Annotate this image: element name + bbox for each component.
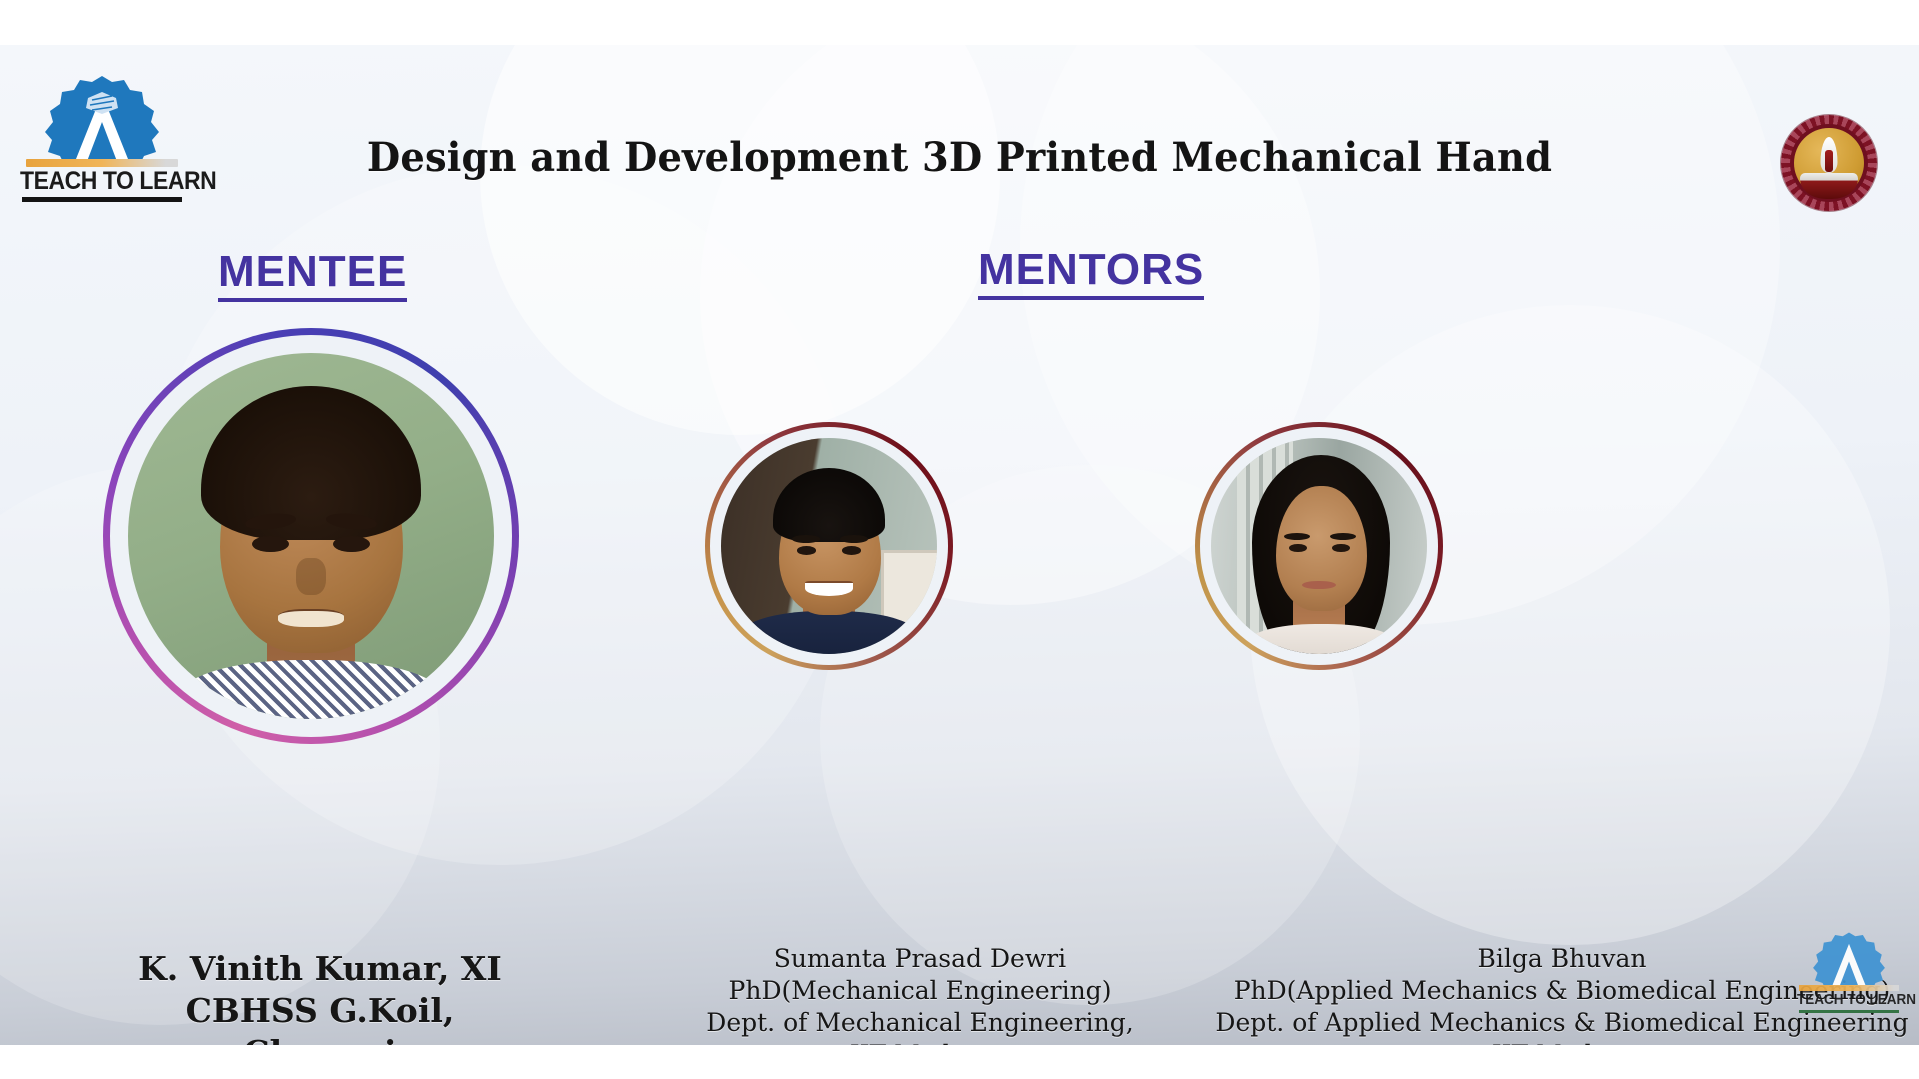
- page-title: Design and Development 3D Printed Mechan…: [38, 134, 1880, 181]
- mentor-2-photo: [1211, 438, 1427, 654]
- letterbox-bottom: [0, 1045, 1919, 1079]
- bg-circle-1: [480, 45, 1000, 435]
- watermark-wordmark: TEACH TO LEARN: [1797, 991, 1891, 1008]
- iit-madras-seal: [1781, 115, 1877, 211]
- mentor-1-caption-line: Dept. of Mechanical Engineering,: [706, 1008, 1133, 1037]
- slide-canvas[interactable]: TEACH TO LEARN Design and Development 3D…: [0, 45, 1919, 1045]
- letterbox-top: [0, 0, 1919, 45]
- mentee-caption-line: Chennai: [243, 1033, 396, 1045]
- watermark-underline: [1799, 1010, 1899, 1013]
- mentee-caption-line: K. Vinith Kumar, XI: [138, 949, 502, 988]
- mentee-portrait: [103, 328, 519, 744]
- mentor-1-portrait: [705, 422, 953, 670]
- mentor-1-caption-line: PhD(Mechanical Engineering): [729, 976, 1112, 1005]
- gear-handshake-watermark-icon: [1803, 930, 1895, 988]
- video-player-stage: TEACH TO LEARN Design and Development 3D…: [0, 0, 1919, 1079]
- mentee-photo: [128, 353, 494, 719]
- mentor-2-portrait: [1195, 422, 1443, 670]
- mentors-section-heading: MENTORS: [978, 245, 1204, 300]
- seal-wick-icon: [1825, 150, 1833, 172]
- teach-to-learn-watermark: TEACH TO LEARN: [1795, 930, 1903, 1025]
- mentee-section-heading: MENTEE: [218, 247, 407, 302]
- mentor-1-caption: Sumanta Prasad Dewri PhD(Mechanical Engi…: [660, 943, 1180, 1045]
- mentee-caption-line: CBHSS G.Koil,: [186, 991, 455, 1030]
- mentor-1-caption-line: Sumanta Prasad Dewri: [774, 944, 1066, 973]
- mentee-caption: K. Vinith Kumar, XI CBHSS G.Koil, Chenna…: [60, 948, 580, 1045]
- mentor-1-photo: [721, 438, 937, 654]
- logo-underline: [22, 197, 182, 202]
